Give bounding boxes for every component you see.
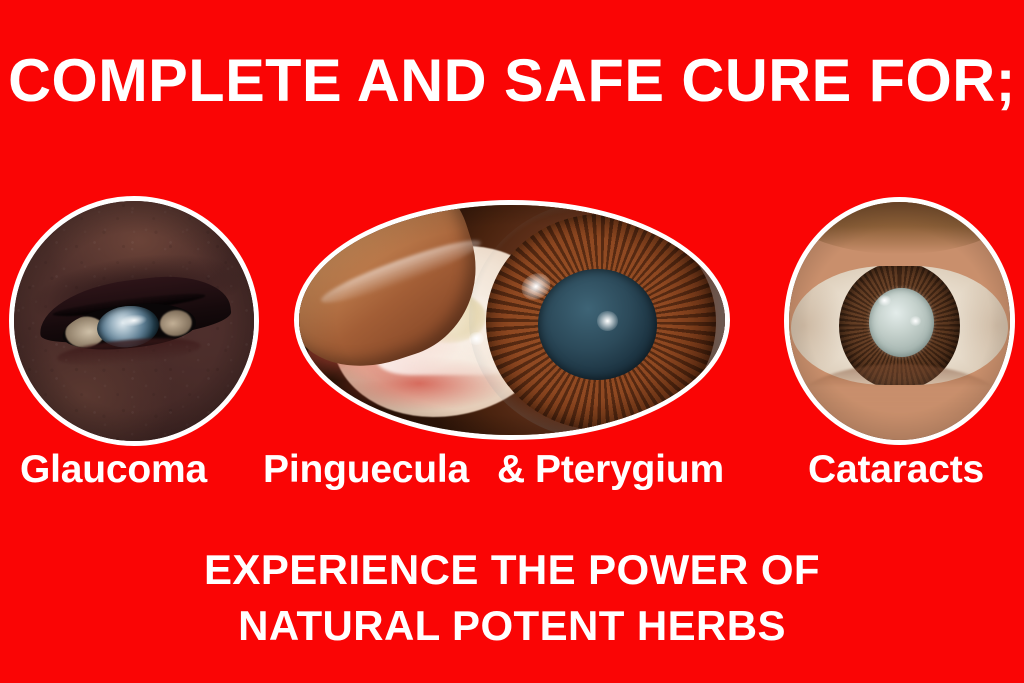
photo-vignette [299, 205, 725, 435]
tagline-line-1: EXPERIENCE THE POWER OF [0, 544, 1024, 596]
label-cataracts: Cataracts [808, 447, 984, 493]
pterygium-photo-layers [299, 205, 725, 435]
tagline-line-2: NATURAL POTENT HERBS [0, 600, 1024, 652]
label-pterygium: Pterygium [535, 447, 724, 493]
condition-images-row [0, 194, 1024, 446]
tagline: EXPERIENCE THE POWER OF NATURAL POTENT H… [0, 544, 1024, 652]
label-glaucoma: Glaucoma [20, 447, 207, 493]
headline-text: COMPLETE AND SAFE CURE FOR; [5, 48, 1019, 114]
photo-vignette [14, 201, 254, 441]
label-ampersand: & [497, 447, 525, 493]
pterygium-eye-photo [294, 200, 730, 440]
cataract-photo-layers [789, 202, 1010, 440]
glaucoma-eye-photo [9, 196, 259, 446]
condition-labels-row: Glaucoma Pinguecula & Pterygium Cataract… [0, 443, 1024, 499]
promotional-banner: COMPLETE AND SAFE CURE FOR; [0, 0, 1024, 683]
cataract-eye-photo [784, 197, 1015, 445]
photo-vignette [789, 202, 1010, 440]
glaucoma-photo-layers [14, 201, 254, 441]
label-pinguecula: Pinguecula [263, 447, 469, 493]
